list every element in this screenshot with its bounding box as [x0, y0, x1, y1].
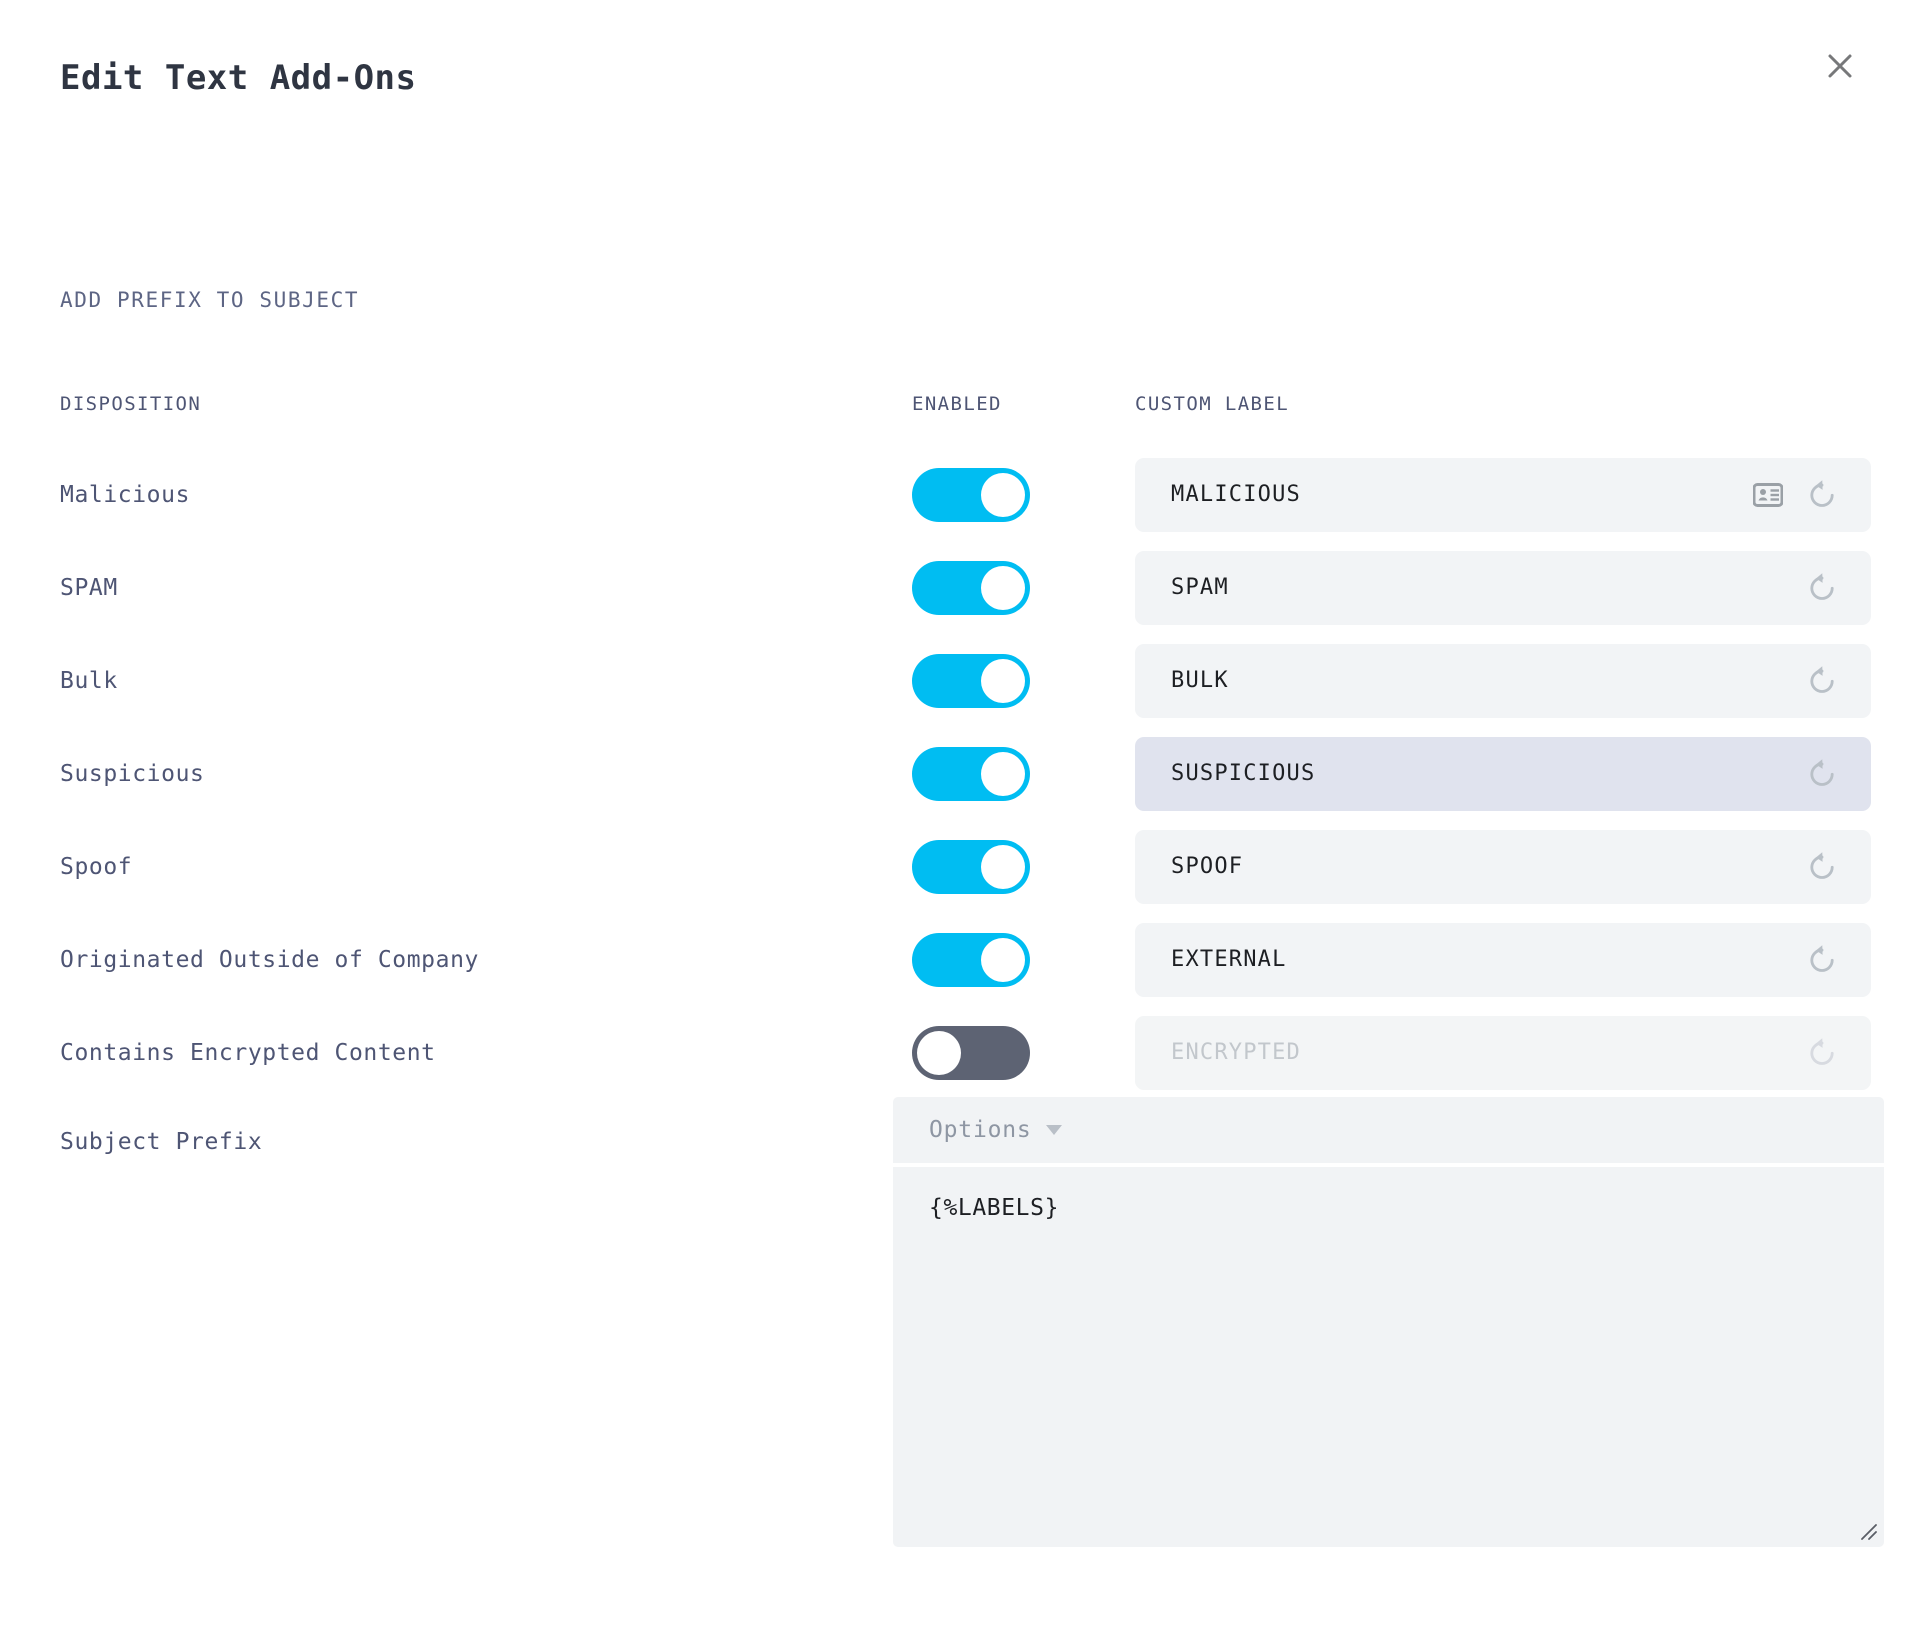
enabled-toggle-cell [912, 747, 1030, 801]
reset-icon[interactable] [1805, 757, 1839, 791]
input-icons [1805, 571, 1839, 605]
custom-label-value: EXTERNAL [1171, 947, 1805, 972]
toggle-knob [917, 1031, 961, 1075]
custom-label-input[interactable]: SPOOF [1135, 830, 1871, 904]
custom-label-input[interactable]: SPAM [1135, 551, 1871, 625]
enabled-toggle-cell [912, 1026, 1030, 1080]
custom-label-input[interactable]: SUSPICIOUS [1135, 737, 1871, 811]
toggle-knob [981, 473, 1025, 517]
table-row: SPAMSPAM [0, 541, 1908, 634]
subject-prefix-textarea-value: {%LABELS} [929, 1195, 1059, 1221]
table-row: Originated Outside of CompanyEXTERNAL [0, 913, 1908, 1006]
custom-label-input[interactable]: MALICIOUS [1135, 458, 1871, 532]
reset-icon[interactable] [1805, 571, 1839, 605]
custom-label-value: SPOOF [1171, 854, 1805, 879]
close-icon [1825, 51, 1855, 81]
table-row: BulkBULK [0, 634, 1908, 727]
enabled-toggle-cell [912, 468, 1030, 522]
close-button[interactable] [1812, 38, 1868, 94]
column-header-custom-label: CUSTOM LABEL [1135, 393, 1289, 415]
toggle-knob [981, 566, 1025, 610]
input-icons [1753, 478, 1839, 512]
enabled-toggle[interactable] [912, 933, 1030, 987]
subject-prefix-label: Subject Prefix [60, 1129, 262, 1155]
enabled-toggle-cell [912, 654, 1030, 708]
reset-icon[interactable] [1805, 943, 1839, 977]
enabled-toggle-cell [912, 840, 1030, 894]
enabled-toggle-cell [912, 561, 1030, 615]
enabled-toggle-cell [912, 933, 1030, 987]
reset-icon[interactable] [1805, 850, 1839, 884]
edit-text-addons-modal: Edit Text Add-Ons ADD PREFIX TO SUBJECT … [0, 0, 1908, 1650]
enabled-toggle[interactable] [912, 468, 1030, 522]
disposition-label: SPAM [60, 575, 118, 601]
toggle-knob [981, 659, 1025, 703]
enabled-toggle[interactable] [912, 561, 1030, 615]
reset-icon [1805, 1036, 1839, 1070]
toggle-knob [981, 845, 1025, 889]
input-icons [1805, 1036, 1839, 1070]
options-dropdown-label: Options [929, 1117, 1032, 1143]
resize-handle-icon[interactable] [1854, 1517, 1878, 1541]
custom-label-input[interactable]: BULK [1135, 644, 1871, 718]
disposition-table: MaliciousMALICIOUSSPAMSPAMBulkBULKSuspic… [0, 448, 1908, 1099]
section-title: ADD PREFIX TO SUBJECT [60, 288, 359, 312]
custom-label-input[interactable]: EXTERNAL [1135, 923, 1871, 997]
custom-label-value: SUSPICIOUS [1171, 761, 1805, 786]
page-title: Edit Text Add-Ons [60, 58, 417, 98]
toggle-knob [981, 752, 1025, 796]
disposition-label: Spoof [60, 854, 132, 880]
disposition-label: Suspicious [60, 761, 204, 787]
custom-label-input: ENCRYPTED [1135, 1016, 1871, 1090]
table-row: SuspiciousSUSPICIOUS [0, 727, 1908, 820]
custom-label-value: SPAM [1171, 575, 1805, 600]
column-header-disposition: DISPOSITION [60, 393, 201, 415]
toggle-knob [981, 938, 1025, 982]
disposition-label: Originated Outside of Company [60, 947, 479, 973]
custom-label-value: BULK [1171, 668, 1805, 693]
table-row: Contains Encrypted ContentENCRYPTED [0, 1006, 1908, 1099]
enabled-toggle[interactable] [912, 747, 1030, 801]
options-dropdown[interactable]: Options [893, 1097, 1884, 1163]
input-icons [1805, 943, 1839, 977]
disposition-label: Bulk [60, 668, 118, 694]
contact-card-icon[interactable] [1753, 483, 1783, 507]
enabled-toggle[interactable] [912, 840, 1030, 894]
enabled-toggle[interactable] [912, 654, 1030, 708]
custom-label-value: MALICIOUS [1171, 482, 1753, 507]
disposition-label: Contains Encrypted Content [60, 1040, 436, 1066]
disposition-label: Malicious [60, 482, 190, 508]
chevron-down-icon [1046, 1125, 1062, 1135]
input-icons [1805, 850, 1839, 884]
column-header-enabled: ENABLED [912, 393, 1002, 415]
table-row: MaliciousMALICIOUS [0, 448, 1908, 541]
table-row: SpoofSPOOF [0, 820, 1908, 913]
input-icons [1805, 664, 1839, 698]
input-icons [1805, 757, 1839, 791]
reset-icon[interactable] [1805, 664, 1839, 698]
reset-icon[interactable] [1805, 478, 1839, 512]
custom-label-value: ENCRYPTED [1171, 1040, 1805, 1065]
enabled-toggle[interactable] [912, 1026, 1030, 1080]
subject-prefix-textarea[interactable]: {%LABELS} [893, 1167, 1884, 1547]
